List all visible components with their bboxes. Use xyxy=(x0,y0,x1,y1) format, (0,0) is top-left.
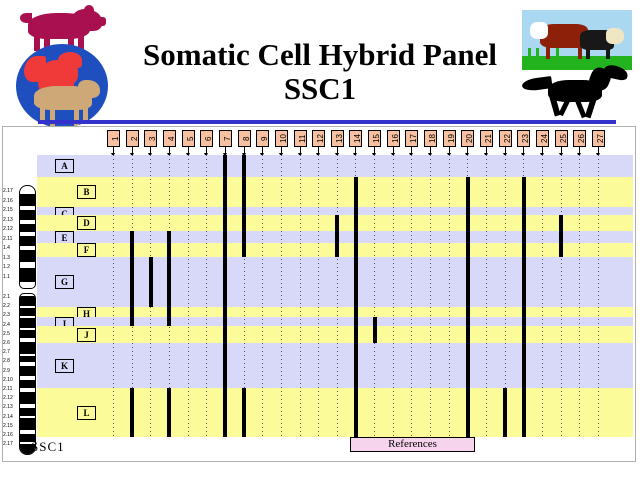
grid-column-16 xyxy=(393,155,394,436)
column-pointer-7 xyxy=(225,147,226,155)
column-pointer-26 xyxy=(579,147,580,155)
ideogram-label-q: 2.9 xyxy=(3,369,10,374)
grid-column-19 xyxy=(449,155,450,436)
retention-bar-clone-8 xyxy=(242,388,246,437)
column-tag-22[interactable]: 22 xyxy=(499,130,512,147)
ideogram-label-p: 2.13 xyxy=(3,218,13,223)
region-band-J xyxy=(37,326,633,343)
page-title: Somatic Cell Hybrid Panel SSC1 xyxy=(110,38,530,106)
retention-bar-clone-2 xyxy=(130,231,134,326)
column-pointer-13 xyxy=(337,147,338,155)
column-tag-27[interactable]: 27 xyxy=(592,130,605,147)
references-button[interactable]: References xyxy=(350,437,475,452)
column-tag-2[interactable]: 2 xyxy=(126,130,139,147)
header-divider xyxy=(38,120,616,124)
retention-bar-clone-2 xyxy=(130,388,134,437)
column-pointer-1 xyxy=(113,147,114,155)
column-pointer-11 xyxy=(300,147,301,155)
region-letter-A: A xyxy=(55,159,74,173)
ideogram-band-q-10 xyxy=(20,418,35,430)
column-tag-17[interactable]: 17 xyxy=(405,130,418,147)
cow-leg xyxy=(83,107,88,127)
column-pointer-16 xyxy=(393,147,394,155)
title-line-2: SSC1 xyxy=(110,72,530,106)
column-pointer-2 xyxy=(132,147,133,155)
column-pointer-20 xyxy=(467,147,468,155)
column-tag-21[interactable]: 21 xyxy=(480,130,493,147)
ideogram-label-p: 1.2 xyxy=(3,265,10,270)
column-pointer-6 xyxy=(206,147,207,155)
ideogram-label-q: 2.8 xyxy=(3,359,10,364)
ideogram-band-q-4 xyxy=(20,342,35,354)
ideogram-label-q: 2.15 xyxy=(3,424,13,429)
species-logo xyxy=(16,44,108,128)
ideogram-band-q-8 xyxy=(20,392,35,404)
grid-column-24 xyxy=(542,155,543,436)
column-tag-1[interactable]: 1 xyxy=(107,130,120,147)
cattle-photo xyxy=(522,10,632,70)
rooster-comb xyxy=(58,52,82,68)
black-cow-head xyxy=(606,28,624,44)
cow-leg xyxy=(50,107,55,127)
column-tag-15[interactable]: 15 xyxy=(368,130,381,147)
column-header-row: 1234567891011121314151617181920212223242… xyxy=(3,127,637,155)
chromosome-ideogram: 2.172.162.152.132.122.111.41.31.21.12.12… xyxy=(19,185,36,455)
retention-bar-clone-4 xyxy=(167,231,171,326)
region-letter-L: L xyxy=(77,406,96,420)
ideogram-label-q: 2.11 xyxy=(3,387,12,392)
column-pointer-23 xyxy=(523,147,524,155)
ideogram-label-q: 2.2 xyxy=(3,304,10,309)
column-tag-12[interactable]: 12 xyxy=(312,130,325,147)
retention-grid: 2.172.162.152.132.122.111.41.31.21.12.12… xyxy=(3,155,637,437)
black-cow-leg xyxy=(606,48,610,59)
retention-bar-clone-15 xyxy=(373,317,377,343)
ideogram-label-p: 2.11 xyxy=(3,237,12,242)
region-letter-J: J xyxy=(77,328,96,342)
column-tag-8[interactable]: 8 xyxy=(238,130,251,147)
ideogram-band-p-2 xyxy=(20,224,35,232)
column-tag-20[interactable]: 20 xyxy=(461,130,474,147)
column-pointer-17 xyxy=(411,147,412,155)
column-pointer-25 xyxy=(561,147,562,155)
grid-column-25 xyxy=(561,155,562,436)
ideogram-band-q-2 xyxy=(20,318,35,328)
pig-ear xyxy=(84,5,94,15)
ideogram-label-p: 2.17 xyxy=(3,189,13,194)
grass-tuft xyxy=(556,48,559,58)
retention-bar-clone-4 xyxy=(167,388,171,437)
ideogram-label-p: 1.1 xyxy=(3,275,10,280)
region-band-B xyxy=(37,177,633,207)
column-pointer-15 xyxy=(374,147,375,155)
region-band-G xyxy=(37,257,633,307)
ideogram-label-p: 1.4 xyxy=(3,246,10,251)
retention-bar-clone-7 xyxy=(223,155,227,437)
column-pointer-10 xyxy=(281,147,282,155)
region-letter-D: D xyxy=(77,216,96,230)
screenshot-root: Somatic Cell Hybrid Panel SSC1 xyxy=(0,0,640,480)
ideogram-label-q: 2.16 xyxy=(3,433,13,438)
ideogram-label-p: 2.12 xyxy=(3,227,13,232)
chromosome-label: SSC1 xyxy=(31,439,65,455)
ideogram-q-arm xyxy=(19,293,36,455)
ideogram-label-q: 2.4 xyxy=(3,323,10,328)
black-cow-leg xyxy=(586,48,590,59)
region-band-H xyxy=(37,307,633,317)
cow-leg xyxy=(74,107,79,127)
pig-snout xyxy=(95,17,106,26)
ideogram-band-q-9 xyxy=(20,408,35,416)
cow-leg xyxy=(40,107,45,127)
column-tag-18[interactable]: 18 xyxy=(424,130,437,147)
ideogram-label-q: 2.1 xyxy=(3,295,10,300)
column-tag-24[interactable]: 24 xyxy=(536,130,549,147)
ideogram-band-p-4 xyxy=(20,250,35,262)
grid-column-6 xyxy=(206,155,207,436)
grid-column-12 xyxy=(318,155,319,436)
column-tag-3[interactable]: 3 xyxy=(144,130,157,147)
grid-column-5 xyxy=(188,155,189,436)
grid-column-18 xyxy=(430,155,431,436)
grid-column-15 xyxy=(374,155,375,436)
ideogram-label-q: 2.17 xyxy=(3,442,13,447)
region-band-A xyxy=(37,155,633,177)
retention-bar-clone-8 xyxy=(242,155,246,257)
column-tag-7[interactable]: 7 xyxy=(219,130,232,147)
grid-column-27 xyxy=(598,155,599,436)
column-tag-23[interactable]: 23 xyxy=(517,130,530,147)
region-letter-B: B xyxy=(77,185,96,199)
page-header: Somatic Cell Hybrid Panel SSC1 xyxy=(0,0,640,128)
ideogram-band-p-1 xyxy=(20,210,35,220)
column-pointer-14 xyxy=(355,147,356,155)
ideogram-band-p-5 xyxy=(20,268,35,282)
ideogram-label-q: 2.3 xyxy=(3,313,10,318)
column-pointer-18 xyxy=(430,147,431,155)
ideogram-band-q-3 xyxy=(20,330,35,338)
region-letter-K: K xyxy=(55,359,74,373)
hereford-leg xyxy=(546,46,550,59)
column-tag-9[interactable]: 9 xyxy=(256,130,269,147)
title-line-1: Somatic Cell Hybrid Panel xyxy=(110,38,530,72)
column-pointer-5 xyxy=(188,147,189,155)
retention-bar-clone-3 xyxy=(149,257,153,307)
column-tag-10[interactable]: 10 xyxy=(275,130,288,147)
ideogram-band-q-0 xyxy=(20,296,35,306)
column-pointer-27 xyxy=(598,147,599,155)
retention-bar-clone-22 xyxy=(503,388,507,437)
grass-tuft xyxy=(536,48,539,58)
grid-column-17 xyxy=(411,155,412,436)
column-tag-19[interactable]: 19 xyxy=(443,130,456,147)
ideogram-label-p: 2.15 xyxy=(3,208,13,213)
grid-column-11 xyxy=(300,155,301,436)
grid-column-26 xyxy=(579,155,580,436)
column-tag-6[interactable]: 6 xyxy=(200,130,213,147)
ideogram-label-q: 2.14 xyxy=(3,415,13,420)
ideogram-label-q: 2.5 xyxy=(3,332,10,337)
grid-column-10 xyxy=(281,155,282,436)
ideogram-label-q: 2.7 xyxy=(3,350,10,355)
column-tag-13[interactable]: 13 xyxy=(331,130,344,147)
retention-bar-clone-20 xyxy=(466,177,470,437)
region-band-K xyxy=(37,343,633,388)
retention-bar-clone-14 xyxy=(354,177,358,437)
region-band-C xyxy=(37,207,633,215)
column-pointer-22 xyxy=(505,147,506,155)
grid-column-13 xyxy=(337,155,338,436)
column-tag-16[interactable]: 16 xyxy=(387,130,400,147)
column-pointer-3 xyxy=(150,147,151,155)
retention-bar-clone-23 xyxy=(522,177,526,437)
column-tag-5[interactable]: 5 xyxy=(182,130,195,147)
ideogram-label-p: 1.3 xyxy=(3,256,10,261)
ideogram-band-q-6 xyxy=(20,366,35,376)
ideogram-band-p-3 xyxy=(20,236,35,246)
ideogram-band-q-7 xyxy=(20,380,35,388)
hereford-head xyxy=(530,22,548,39)
column-tag-14[interactable]: 14 xyxy=(349,130,362,147)
hybrid-panel: 1234567891011121314151617181920212223242… xyxy=(2,126,636,462)
ideogram-label-q: 2.12 xyxy=(3,396,13,401)
column-pointer-4 xyxy=(169,147,170,155)
grid-column-21 xyxy=(486,155,487,436)
cow-head xyxy=(78,80,100,98)
horse-illustration xyxy=(520,66,632,122)
grid-column-9 xyxy=(262,155,263,436)
column-tag-11[interactable]: 11 xyxy=(294,130,307,147)
column-pointer-12 xyxy=(318,147,319,155)
column-tag-4[interactable]: 4 xyxy=(163,130,176,147)
region-band-L xyxy=(37,388,633,437)
retention-bar-clone-25 xyxy=(559,215,563,257)
column-pointer-21 xyxy=(486,147,487,155)
grid-column-1 xyxy=(113,155,114,436)
ideogram-band-p-0 xyxy=(20,194,35,206)
ideogram-band-q-1 xyxy=(20,308,35,316)
retention-bar-clone-13 xyxy=(335,215,339,257)
ideogram-label-q: 2.10 xyxy=(3,378,13,383)
ideogram-band-q-5 xyxy=(20,356,35,362)
region-band-I xyxy=(37,317,633,326)
column-pointer-19 xyxy=(449,147,450,155)
column-pointer-8 xyxy=(244,147,245,155)
ideogram-p-arm xyxy=(19,185,36,289)
region-letter-F: F xyxy=(77,243,96,257)
ideogram-label-q: 2.13 xyxy=(3,405,13,410)
column-tag-25[interactable]: 25 xyxy=(555,130,568,147)
column-tag-26[interactable]: 26 xyxy=(573,130,586,147)
region-letter-G: G xyxy=(55,275,74,289)
ideogram-label-q: 2.6 xyxy=(3,341,10,346)
column-pointer-9 xyxy=(262,147,263,155)
grass-tuft xyxy=(528,48,531,58)
ideogram-label-p: 2.16 xyxy=(3,199,13,204)
column-pointer-24 xyxy=(542,147,543,155)
